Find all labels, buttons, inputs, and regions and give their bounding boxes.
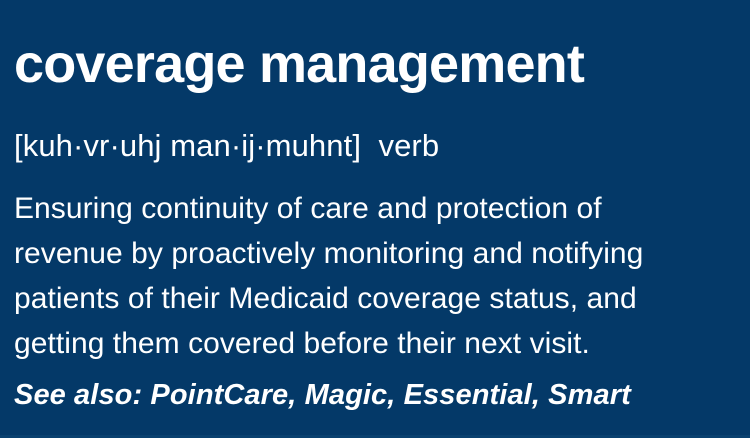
entry-pronunciation: [kuh·vr·uhj man·ij·muhnt] verb <box>14 126 439 166</box>
definition-line: Ensuring continuity of care and protecti… <box>14 186 730 231</box>
entry-definition: Ensuring continuity of care and protecti… <box>14 186 730 366</box>
definition-line: revenue by proactively monitoring and no… <box>14 231 730 276</box>
definition-line: getting them covered before their next v… <box>14 321 730 366</box>
see-also-line: See also: PointCare, Magic, Essential, S… <box>14 376 631 414</box>
definition-line: patients of their Medicaid coverage stat… <box>14 276 730 321</box>
entry-term: coverage management <box>14 34 584 94</box>
dictionary-definition-card: coverage management [kuh·vr·uhj man·ij·m… <box>0 0 750 438</box>
